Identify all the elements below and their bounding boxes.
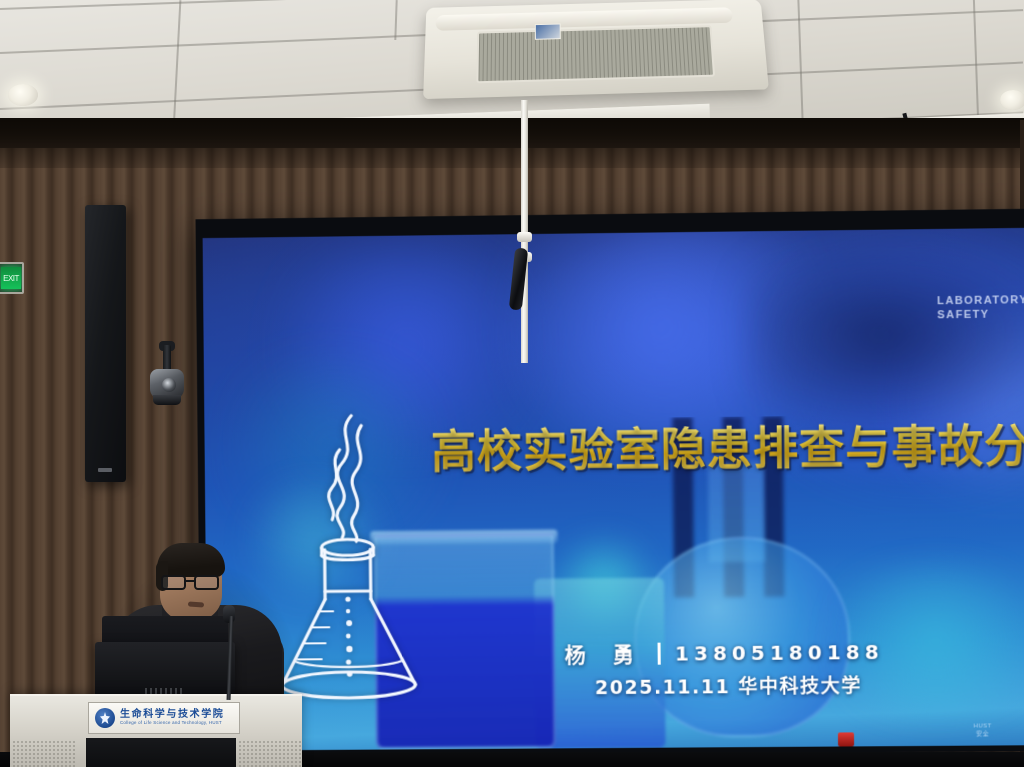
mic-joint: [517, 232, 532, 242]
wall-shadow: [0, 120, 1024, 168]
podium-nameplate: 生命科学与技术学院 College of Life Science and Te…: [88, 702, 240, 734]
ac-grille: [476, 25, 715, 83]
slide-presenter-line: 杨 勇 13805180188: [565, 637, 884, 669]
podium-sign-english: College of Life Science and Technology, …: [120, 721, 224, 726]
wall-column-speaker: [85, 205, 126, 482]
slide-surface: 高校实验室隐患排查与事故分析 高校实验室隐患排查与事故分析 杨 勇 138051…: [203, 228, 1024, 751]
presenter-glasses-icon: [159, 575, 225, 590]
ceiling-air-conditioner: [423, 0, 769, 99]
exit-sign-label: EXIT: [1, 267, 21, 289]
presenter-mouth: [188, 601, 204, 607]
watermark-line-2: SAFETY: [937, 308, 1024, 323]
ptz-camera-icon: [150, 345, 184, 405]
podium-speaker-grille-left: [12, 740, 76, 767]
watermark-line-1: LABORATORY: [937, 294, 1024, 309]
ceiling-light: [8, 84, 38, 106]
projection-screen: 高校实验室隐患排查与事故分析 高校实验室隐患排查与事故分析 杨 勇 138051…: [195, 209, 1024, 757]
podium-front-panel: [86, 738, 236, 767]
ceiling-light: [1000, 90, 1024, 110]
slide-date-org: 2025.11.11 华中科技大学: [595, 671, 862, 700]
podium-speaker-grille-right: [238, 740, 302, 767]
presenter-phone: 13805180188: [675, 640, 884, 666]
ac-badge: [535, 23, 561, 39]
exit-sign: EXIT: [0, 262, 24, 294]
hust-life-science-logo-icon: [95, 708, 115, 728]
presenter-name: 杨 勇: [565, 639, 645, 670]
slide-title: 高校实验室隐患排查与事故分析: [431, 409, 1024, 481]
slide-red-marker: [838, 732, 854, 746]
slide-watermark: LABORATORY SAFETY: [937, 294, 1024, 323]
podium: 生命科学与技术学院 College of Life Science and Te…: [10, 694, 302, 767]
slide-corner-mark: HUST 安全: [973, 724, 992, 740]
lecture-hall-scene: EXIT: [0, 0, 1024, 767]
presenter-separator-icon: [658, 643, 661, 665]
corner-mark-line-2: 安全: [973, 732, 992, 740]
